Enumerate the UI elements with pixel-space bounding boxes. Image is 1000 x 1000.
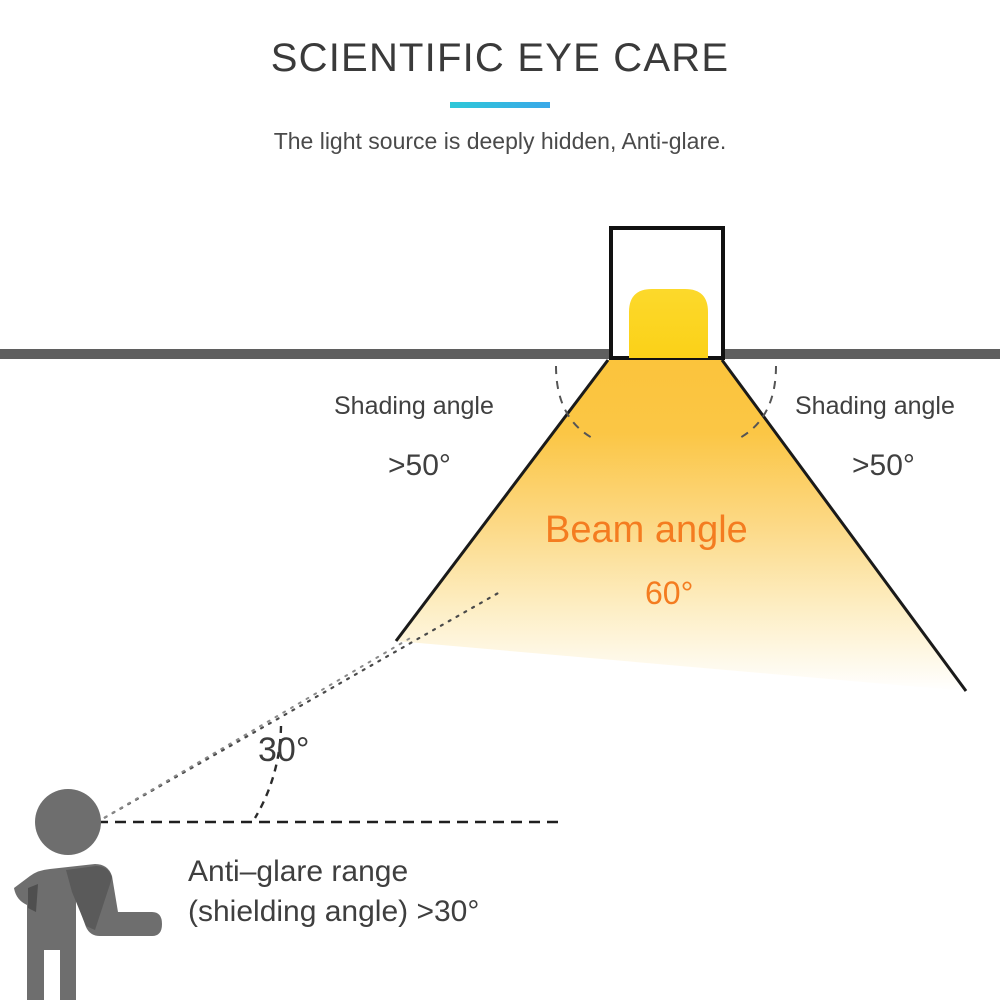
- lamp-fixture: [611, 228, 723, 358]
- viewer-head: [35, 789, 101, 855]
- antiglare-line-1: Anti–glare range: [188, 852, 479, 892]
- beam-angle-value: 60°: [645, 575, 693, 613]
- viewer-figure: [14, 789, 162, 1000]
- beam-angle-label: Beam angle: [545, 508, 748, 553]
- lighting-diagram: [0, 0, 1000, 1000]
- shading-angle-left-value: >50°: [388, 448, 451, 483]
- shading-angle-left-label: Shading angle: [334, 392, 494, 422]
- lamp-bulb: [629, 289, 708, 358]
- shading-angle-right-label: Shading angle: [795, 392, 955, 422]
- infographic-canvas: SCIENTIFIC EYE CARE The light source is …: [0, 0, 1000, 1000]
- ceiling-line: [0, 349, 1000, 359]
- shielding-angle-value: 30°: [258, 730, 309, 770]
- sight-line-upper: [97, 592, 500, 822]
- antiglare-line-2: (shielding angle) >30°: [188, 892, 479, 932]
- sight-line-lower: [97, 637, 412, 822]
- shading-angle-right-value: >50°: [852, 448, 915, 483]
- antiglare-caption: Anti–glare range (shielding angle) >30°: [188, 852, 479, 931]
